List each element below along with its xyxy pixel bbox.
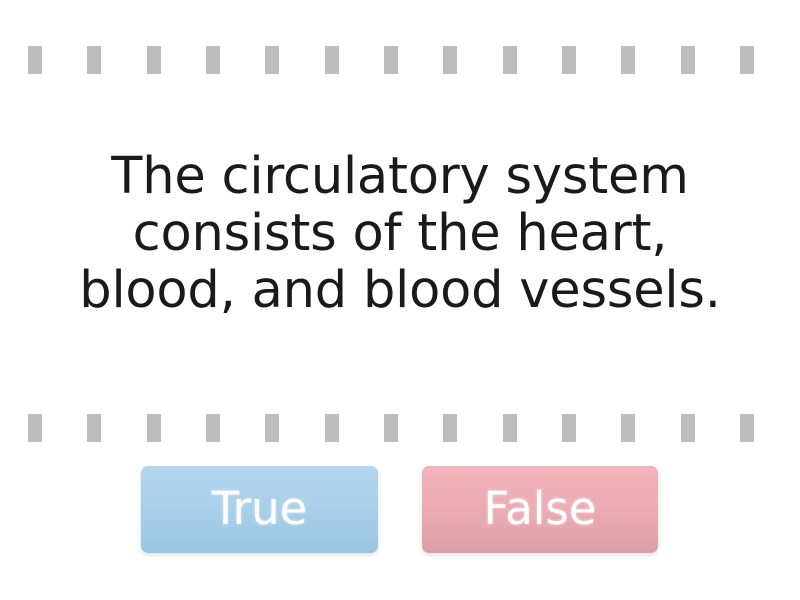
- dash-mark: [206, 414, 220, 442]
- dash-mark: [621, 46, 635, 74]
- dash-mark: [147, 46, 161, 74]
- dash-mark: [681, 414, 695, 442]
- dash-mark: [562, 414, 576, 442]
- question-statement: The circulatory system consists of the h…: [40, 148, 760, 319]
- dash-mark: [325, 414, 339, 442]
- dash-mark: [503, 414, 517, 442]
- dash-mark: [28, 414, 42, 442]
- answer-button-true[interactable]: True: [141, 466, 378, 553]
- dash-mark: [147, 414, 161, 442]
- answer-button-false-label: False: [484, 486, 597, 531]
- dash-mark: [384, 46, 398, 74]
- dash-mark: [384, 414, 398, 442]
- dash-mark: [28, 46, 42, 74]
- dash-mark: [740, 46, 754, 74]
- dash-mark: [503, 46, 517, 74]
- dash-mark: [206, 46, 220, 74]
- dash-mark: [443, 46, 457, 74]
- dash-mark: [265, 46, 279, 74]
- dashed-separator-bottom: [28, 414, 754, 442]
- dash-mark: [325, 46, 339, 74]
- quiz-card: The circulatory system consists of the h…: [0, 0, 800, 600]
- answer-button-true-label: True: [212, 486, 308, 531]
- dash-mark: [87, 46, 101, 74]
- dash-mark: [562, 46, 576, 74]
- dash-mark: [265, 414, 279, 442]
- answer-options: True False: [0, 466, 800, 556]
- answer-button-false[interactable]: False: [422, 466, 658, 553]
- dash-mark: [681, 46, 695, 74]
- dash-mark: [87, 414, 101, 442]
- dash-mark: [740, 414, 754, 442]
- dashed-separator-top: [28, 46, 754, 74]
- dash-mark: [443, 414, 457, 442]
- dash-mark: [621, 414, 635, 442]
